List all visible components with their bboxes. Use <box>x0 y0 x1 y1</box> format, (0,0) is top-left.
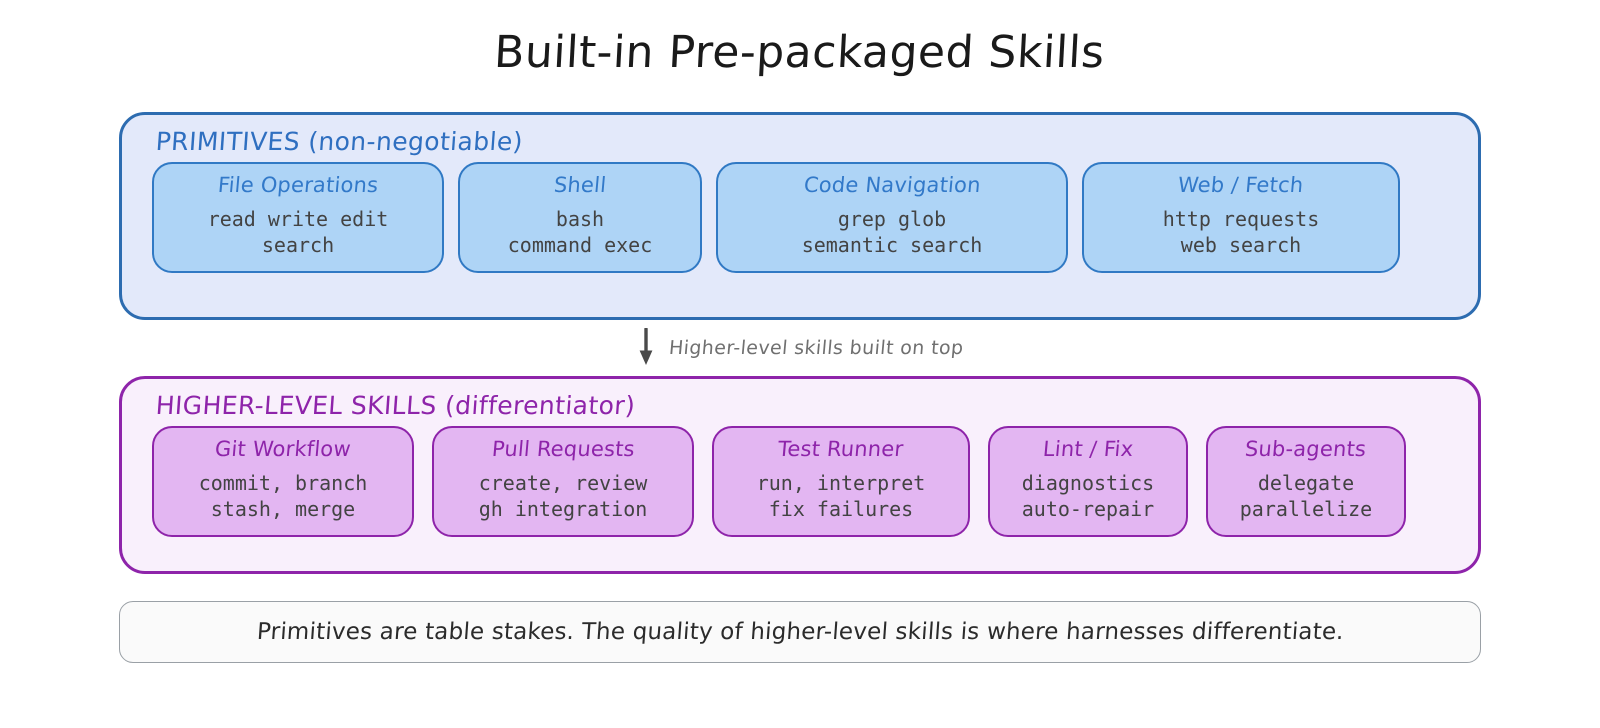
card-body: grep glob semantic search <box>802 206 983 259</box>
card-title: Git Workflow <box>214 437 352 461</box>
card-body: run, interpret fix failures <box>757 470 926 523</box>
card-title: Sub-agents <box>1244 437 1367 461</box>
card-title: Pull Requests <box>491 437 636 461</box>
card-body: http requests web search <box>1163 206 1320 259</box>
primitives-panel: PRIMITIVES (non-negotiable) File Operati… <box>119 112 1481 320</box>
card-title: Test Runner <box>777 437 904 461</box>
card-body: commit, branch stash, merge <box>199 470 368 523</box>
primitives-card-row: File Operations read write edit search S… <box>122 162 1478 291</box>
page-title: Built-in Pre-packaged Skills <box>0 0 1600 84</box>
connector-label: Higher-level skills built on top <box>668 337 964 359</box>
card-code-navigation[interactable]: Code Navigation grep glob semantic searc… <box>716 162 1068 273</box>
card-body: diagnostics auto-repair <box>1022 470 1154 523</box>
card-git-workflow[interactable]: Git Workflow commit, branch stash, merge <box>152 426 414 537</box>
card-title: Shell <box>553 173 607 197</box>
higher-level-panel-label: HIGHER-LEVEL SKILLS (differentiator) <box>120 379 1479 426</box>
card-web-fetch[interactable]: Web / Fetch http requests web search <box>1082 162 1400 273</box>
card-shell[interactable]: Shell bash command exec <box>458 162 702 273</box>
card-body: read write edit search <box>208 206 389 259</box>
footer-note: Primitives are table stakes. The quality… <box>119 601 1481 663</box>
higher-level-card-row: Git Workflow commit, branch stash, merge… <box>122 426 1478 555</box>
card-test-runner[interactable]: Test Runner run, interpret fix failures <box>712 426 970 537</box>
connector: Higher-level skills built on top <box>0 325 1600 371</box>
higher-level-skills-panel: HIGHER-LEVEL SKILLS (differentiator) Git… <box>119 376 1481 574</box>
card-file-operations[interactable]: File Operations read write edit search <box>152 162 444 273</box>
card-title: Lint / Fix <box>1042 437 1134 461</box>
card-title: Web / Fetch <box>1177 173 1304 197</box>
arrow-down-icon <box>637 328 655 368</box>
card-sub-agents[interactable]: Sub-agents delegate parallelize <box>1206 426 1406 537</box>
card-title: Code Navigation <box>803 173 982 197</box>
card-body: create, review gh integration <box>479 470 648 523</box>
card-title: File Operations <box>217 173 379 197</box>
card-body: delegate parallelize <box>1240 470 1372 523</box>
card-pull-requests[interactable]: Pull Requests create, review gh integrat… <box>432 426 694 537</box>
card-body: bash command exec <box>508 206 653 259</box>
card-lint-fix[interactable]: Lint / Fix diagnostics auto-repair <box>988 426 1188 537</box>
footer-note-text: Primitives are table stakes. The quality… <box>256 619 1345 645</box>
primitives-panel-label: PRIMITIVES (non-negotiable) <box>120 115 1479 162</box>
